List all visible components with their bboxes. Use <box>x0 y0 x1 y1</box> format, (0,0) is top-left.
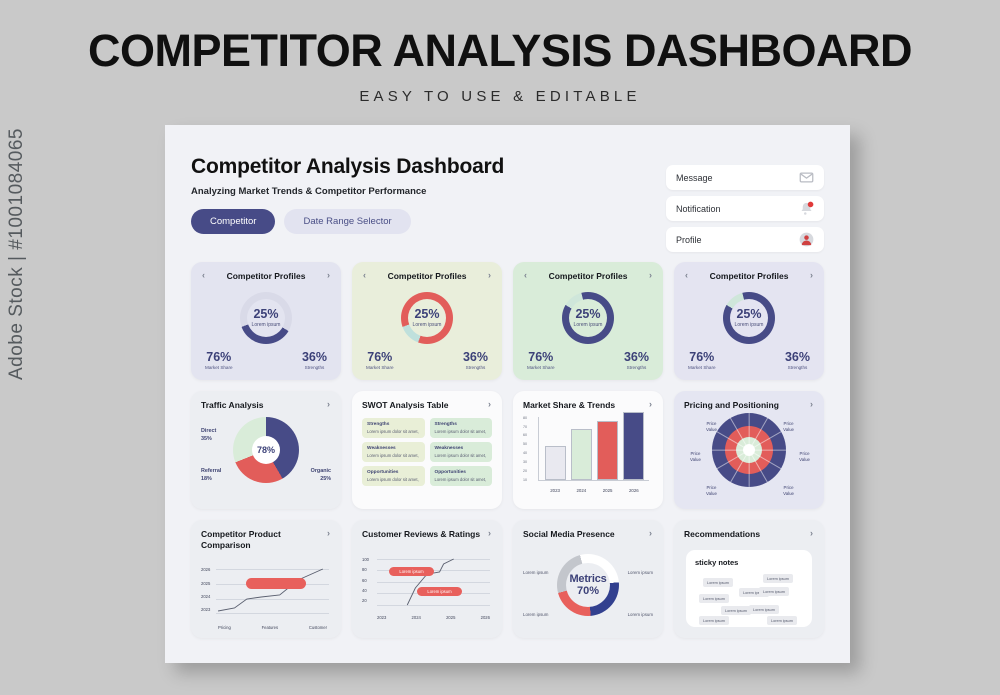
card-title: Traffic Analysis <box>201 400 326 411</box>
traffic-organic-value: 25% <box>320 476 331 482</box>
swot-cell-head: Weaknesses <box>435 446 488 451</box>
x-tick: Pricing <box>218 625 231 630</box>
date-range-selector-button[interactable]: Date Range Selector <box>284 209 410 234</box>
donut-percent: 25% <box>736 307 761 321</box>
y-tick: 60 <box>523 434 527 438</box>
product-plot-area <box>216 568 329 614</box>
product-y-axis: 2026 2025 2024 2023 <box>201 568 210 612</box>
social-label: Lorem ipsum <box>523 612 548 617</box>
market-share-trends-card[interactable]: Market Share & Trends › 807060 504030 20… <box>513 391 663 509</box>
stat-value: 36% <box>302 350 327 364</box>
pricing-label-line1: Price <box>784 421 794 426</box>
pricing-label-line2: Value <box>799 457 810 462</box>
swot-analysis-card[interactable]: SWOT Analysis Table › Strengths Lorem ip… <box>352 391 502 509</box>
traffic-analysis-card[interactable]: Traffic Analysis › 78% Direct 35% Referr… <box>191 391 341 509</box>
next-icon[interactable]: › <box>648 271 653 280</box>
donut-percent: 25% <box>253 307 278 321</box>
chevron-right-icon[interactable]: › <box>326 400 331 409</box>
card-title: Competitor Profiles <box>367 271 487 282</box>
x-tick: 2023 <box>377 615 386 620</box>
card-title: Competitor Product Comparison <box>201 529 326 550</box>
profile-donut-center-4: 25% Lorem ipsum <box>723 292 775 344</box>
reviews-trend-line <box>377 558 490 606</box>
swot-cell: Opportunities Lorem ipsum dolor sit amet… <box>362 466 425 486</box>
social-label: Lorem ipsum <box>628 570 653 575</box>
pricing-label-line2: Value <box>690 457 701 462</box>
chevron-right-icon[interactable]: › <box>648 529 653 538</box>
sticky-notes-area: Lorem ipsum Lorem ipsum Lorem ipsum Lore… <box>695 572 803 632</box>
card-title: SWOT Analysis Table <box>362 400 487 411</box>
social-donut-center: Metrics 70% <box>566 563 610 607</box>
x-tick: Customer <box>309 625 327 630</box>
card-title: Pricing and Positioning <box>684 400 809 411</box>
product-comparison-card[interactable]: Competitor Product Comparison › 2026 202… <box>191 520 341 638</box>
social-metrics-label: Metrics <box>569 573 606 585</box>
competitor-profile-card-1[interactable]: ‹ Competitor Profiles › 25% Lorem ipsum … <box>191 262 341 380</box>
x-tick: 2026 <box>623 488 644 493</box>
swot-cell: Strengths Lorem ipsum dolor sit amet, <box>430 418 493 438</box>
stat-value: 36% <box>463 350 488 364</box>
stat-value: 76% <box>205 350 233 364</box>
sticky-note[interactable]: Lorem ipsum <box>763 574 793 583</box>
x-tick: 2023 <box>545 488 566 493</box>
chevron-right-icon[interactable]: › <box>487 400 492 409</box>
pricing-label-line2: Value <box>706 491 717 496</box>
next-icon[interactable]: › <box>326 271 331 280</box>
message-row[interactable]: Message <box>666 165 824 190</box>
stat-label: Strengths <box>463 365 488 370</box>
profile-donut-center-3: 25% Lorem ipsum <box>562 292 614 344</box>
social-label: Lorem ipsum <box>523 570 548 575</box>
y-tick: 40 <box>523 452 527 456</box>
profile-donut-center-2: 25% Lorem ipsum <box>401 292 453 344</box>
swot-cell-text: Lorem ipsum dolor sit amet, <box>435 429 488 434</box>
swot-cell: Weaknesses Lorem ipsum dolor sit amet, <box>430 442 493 462</box>
strengths-stat: 36% Strengths <box>624 350 649 370</box>
swot-cell-head: Weaknesses <box>367 446 420 451</box>
market-share-stat: 76% Market Share <box>527 350 555 370</box>
product-trend-line <box>216 568 329 614</box>
donut-caption: Lorem ipsum <box>413 322 442 328</box>
dashboard-header: Competitor Analysis Dashboard Analyzing … <box>191 155 504 234</box>
y-tick: 2024 <box>201 595 210 599</box>
donut-percent: 25% <box>575 307 600 321</box>
reviews-plot-area: Lorem ipsum Lorem ipsum <box>377 558 490 606</box>
pricing-label: Price Value <box>706 421 717 434</box>
stat-label: Market Share <box>527 365 555 370</box>
ring-spokes <box>712 413 786 487</box>
swot-cell-head: Opportunities <box>367 470 420 475</box>
strengths-stat: 36% Strengths <box>785 350 810 370</box>
y-tick: 70 <box>523 426 527 430</box>
sticky-note[interactable]: Lorem ipsum <box>703 578 733 587</box>
donut-percent: 25% <box>414 307 439 321</box>
sticky-notes-title: sticky notes <box>695 558 803 567</box>
traffic-organic-name: Organic <box>311 468 331 474</box>
reviews-x-axis: 2023 2024 2025 2026 <box>377 615 490 620</box>
pricing-label-line1: Price <box>690 451 700 456</box>
donut-caption: Lorem ipsum <box>735 322 764 328</box>
pricing-label: Price Value <box>706 485 717 498</box>
reviews-annotation-1: Lorem ipsum <box>389 567 434 576</box>
swot-table: Strengths Lorem ipsum dolor sit amet, St… <box>362 418 492 486</box>
y-tick: 20 <box>362 599 369 603</box>
product-line-chart: 2026 2025 2024 2023 Pricing <box>201 568 331 630</box>
poster-subtitle: EASY TO USE & EDITABLE <box>0 88 1000 105</box>
y-tick: 2025 <box>201 582 210 586</box>
chevron-right-icon[interactable]: › <box>809 400 814 409</box>
card-title: Competitor Profiles <box>528 271 648 282</box>
pricing-label-line1: Price <box>784 485 794 490</box>
competitor-profile-card-2[interactable]: ‹ Competitor Profiles › 25% Lorem ipsum … <box>352 262 502 380</box>
x-tick: Features <box>262 625 279 630</box>
pricing-label: Price Value <box>783 485 794 498</box>
card-title: Competitor Profiles <box>689 271 809 282</box>
message-label: Message <box>676 173 713 183</box>
donut-caption: Lorem ipsum <box>574 322 603 328</box>
product-highlight-bar <box>246 578 306 589</box>
notification-label: Notification <box>676 204 721 214</box>
traffic-center-value: 78% <box>252 436 280 464</box>
stat-label: Strengths <box>785 365 810 370</box>
chevron-right-icon[interactable]: › <box>809 529 814 538</box>
pricing-radial-chart <box>712 413 786 487</box>
traffic-label-referral: Referral 18% <box>201 467 221 483</box>
competitor-profile-card-4[interactable]: ‹ Competitor Profiles › 25% Lorem ipsum … <box>674 262 824 380</box>
bar-chart-y-axis: 807060 504030 2010 <box>523 417 527 483</box>
envelope-icon[interactable] <box>799 170 814 185</box>
market-share-stat: 76% Market Share <box>688 350 716 370</box>
social-media-card[interactable]: Social Media Presence › Metrics 70% Lore… <box>513 520 663 638</box>
sticky-note[interactable]: Lorem ipsum <box>759 587 789 596</box>
market-share-stat: 76% Market Share <box>205 350 233 370</box>
chevron-right-icon[interactable]: › <box>487 529 492 538</box>
bar-2025 <box>597 421 618 481</box>
page-subtitle: Analyzing Market Trends & Competitor Per… <box>191 186 504 197</box>
swot-cell-head: Strengths <box>367 422 420 427</box>
card-title: Market Share & Trends <box>523 400 648 411</box>
pricing-label-line2: Value <box>783 427 794 432</box>
bar-series <box>542 412 647 480</box>
pricing-label: Price Value <box>690 451 701 464</box>
market-bar-chart: 807060 504030 2010 20232024 20252026 <box>523 415 653 503</box>
sticky-note[interactable]: Lorem ipsum <box>767 616 797 625</box>
stat-label: Market Share <box>366 365 394 370</box>
product-x-axis: Pricing Features Customer <box>218 625 327 630</box>
swot-cell: Weaknesses Lorem ipsum dolor sit amet, <box>362 442 425 462</box>
swot-cell-text: Lorem ipsum dolor sit amet, <box>367 429 420 434</box>
reviews-line-chart: 100 80 60 40 20 Lorem ipsum Lore <box>362 558 492 620</box>
pricing-label-line2: Value <box>706 427 717 432</box>
x-tick: 2026 <box>481 615 490 620</box>
pricing-label: Price Value <box>783 421 794 434</box>
header-button-row: Competitor Date Range Selector <box>191 209 504 234</box>
customer-reviews-card[interactable]: Customer Reviews & Ratings › 100 80 60 4… <box>352 520 502 638</box>
x-tick: 2024 <box>571 488 592 493</box>
stat-label: Strengths <box>302 365 327 370</box>
swot-cell-head: Opportunities <box>435 470 488 475</box>
traffic-label-organic: Organic 25% <box>311 467 331 483</box>
chevron-right-icon[interactable]: › <box>648 400 653 409</box>
swot-cell: Strengths Lorem ipsum dolor sit amet, <box>362 418 425 438</box>
traffic-donut-chart: 78% <box>233 417 299 483</box>
pricing-label-line1: Price <box>800 451 810 456</box>
social-metrics-value: 70% <box>577 585 599 597</box>
swot-cell-text: Lorem ipsum dolor sit amet, <box>435 477 488 482</box>
dashboard-card-grid: ‹ Competitor Profiles › 25% Lorem ipsum … <box>191 262 824 638</box>
stat-value: 36% <box>624 350 649 364</box>
traffic-referral-value: 18% <box>201 476 212 482</box>
x-tick: 2024 <box>412 615 421 620</box>
traffic-referral-name: Referral <box>201 468 221 474</box>
social-label: Lorem ipsum <box>628 612 653 617</box>
recommendations-card[interactable]: Recommendations › sticky notes Lorem ips… <box>674 520 824 638</box>
competitor-button[interactable]: Competitor <box>191 209 275 234</box>
bar-2024 <box>571 429 592 480</box>
card-title: Recommendations <box>684 529 809 540</box>
y-tick: 60 <box>362 579 369 583</box>
stat-value: 76% <box>366 350 394 364</box>
notification-row[interactable]: Notification <box>666 196 824 221</box>
sticky-note[interactable]: Lorem ipsum <box>721 606 751 615</box>
profile-row[interactable]: Profile <box>666 227 824 252</box>
swot-cell-text: Lorem ipsum dolor sit amet, <box>367 477 420 482</box>
y-tick: 30 <box>523 461 527 465</box>
y-tick: 50 <box>523 443 527 447</box>
dashboard-panel: Competitor Analysis Dashboard Analyzing … <box>165 125 850 663</box>
stat-value: 36% <box>785 350 810 364</box>
next-icon[interactable]: › <box>809 271 814 280</box>
y-tick: 80 <box>362 568 369 572</box>
y-tick: 2026 <box>201 568 210 572</box>
next-icon[interactable]: › <box>487 271 492 280</box>
stat-label: Market Share <box>205 365 233 370</box>
x-tick: 2025 <box>597 488 618 493</box>
pricing-label-line2: Value <box>783 491 794 496</box>
y-tick: 20 <box>523 470 527 474</box>
page-title: Competitor Analysis Dashboard <box>191 155 504 179</box>
pricing-label-line1: Price <box>706 421 716 426</box>
y-tick: 80 <box>523 417 527 421</box>
sticky-note[interactable]: Lorem ipsum <box>699 594 729 603</box>
y-axis-line <box>538 417 539 481</box>
swot-cell-head: Strengths <box>435 422 488 427</box>
profile-label: Profile <box>676 235 702 245</box>
traffic-direct-name: Direct <box>201 428 216 434</box>
x-tick: 2025 <box>446 615 455 620</box>
y-tick: 2023 <box>201 608 210 612</box>
donut-caption: Lorem ipsum <box>252 322 281 328</box>
utility-stack: Message Notification Profile <box>666 165 824 258</box>
stat-label: Strengths <box>624 365 649 370</box>
stock-watermark-id: Adobe Stock | #1001084065 <box>6 128 28 380</box>
stat-value: 76% <box>527 350 555 364</box>
swot-cell-text: Lorem ipsum dolor sit amet, <box>367 453 420 458</box>
bar-2026 <box>623 412 644 480</box>
sticky-note[interactable]: Lorem ipsum <box>699 616 729 625</box>
traffic-label-direct: Direct 35% <box>201 427 216 443</box>
reviews-y-axis: 100 80 60 40 20 <box>362 558 369 604</box>
market-share-stat: 76% Market Share <box>366 350 394 370</box>
chevron-right-icon[interactable]: › <box>326 529 331 538</box>
card-title: Social Media Presence <box>523 529 648 540</box>
traffic-direct-value: 35% <box>201 436 212 442</box>
poster-title: COMPETITOR ANALYSIS DASHBOARD <box>0 25 1000 77</box>
strengths-stat: 36% Strengths <box>463 350 488 370</box>
profile-donut-center-1: 25% Lorem ipsum <box>240 292 292 344</box>
card-title: Customer Reviews & Ratings <box>362 529 487 540</box>
y-tick: 100 <box>362 558 369 562</box>
bar-chart-x-axis: 20232024 20252026 <box>542 488 647 493</box>
y-tick: 10 <box>523 479 527 483</box>
pricing-positioning-card[interactable]: Pricing and Positioning › <box>674 391 824 509</box>
stat-value: 76% <box>688 350 716 364</box>
sticky-notes-panel: sticky notes Lorem ipsum Lorem ipsum Lor… <box>686 550 812 627</box>
sticky-note[interactable]: Lorem ipsum <box>749 605 779 614</box>
strengths-stat: 36% Strengths <box>302 350 327 370</box>
reviews-annotation-2: Lorem ipsum <box>417 587 462 596</box>
social-donut-chart: Metrics 70% <box>557 554 619 616</box>
bar-2023 <box>545 446 566 480</box>
stat-label: Market Share <box>688 365 716 370</box>
competitor-profile-card-3[interactable]: ‹ Competitor Profiles › 25% Lorem ipsum … <box>513 262 663 380</box>
avatar-icon[interactable] <box>799 232 814 247</box>
pricing-label: Price Value <box>799 451 810 464</box>
swot-cell-text: Lorem ipsum dolor sit amet, <box>435 453 488 458</box>
card-title: Competitor Profiles <box>206 271 326 282</box>
pricing-label-line1: Price <box>706 485 716 490</box>
swot-cell: Opportunities Lorem ipsum dolor sit amet… <box>430 466 493 486</box>
bell-icon[interactable] <box>799 201 814 216</box>
y-tick: 40 <box>362 589 369 593</box>
